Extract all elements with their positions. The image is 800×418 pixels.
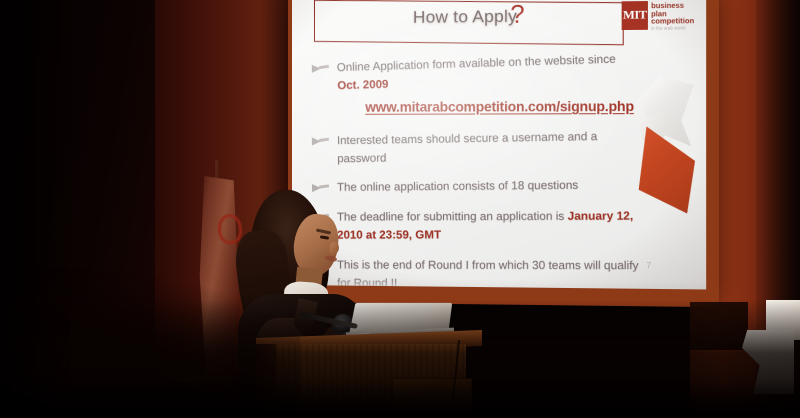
list-item: Online Application form available on the… [310, 48, 650, 95]
signup-url-link[interactable]: www.mitarabcompetition.com/signup.php [365, 99, 649, 115]
logo-mit-text: MIT [623, 7, 647, 23]
speaker-nose [329, 241, 340, 254]
logo-wordmark: business plan competition in the arab wo… [651, 2, 693, 32]
title-question-mark: ? [510, 0, 524, 30]
list-item: Interested teams should secure a usernam… [310, 126, 650, 168]
bullet-emphasis: Oct. 2009 [337, 79, 388, 93]
left-edge-darkening [0, 0, 70, 418]
slide-page-number: 7 [646, 261, 651, 270]
bullet-text: Online Application form available on the… [337, 53, 616, 92]
logo-tagline: in the arab world [651, 25, 693, 32]
mit-arab-competition-logo: MIT business plan competition in the ara… [622, 1, 694, 33]
pen-nib-bullet-icon [312, 136, 329, 144]
pen-nib-bullet-icon [312, 63, 329, 72]
bullet-text: Interested teams should secure a usernam… [337, 131, 598, 165]
logo-line-competition: competition [651, 17, 693, 25]
page-title: How to Apply [413, 7, 517, 28]
presentation-photo: How to Apply ? MIT business plan competi… [0, 0, 800, 418]
bottom-edge-darkening [0, 382, 800, 418]
